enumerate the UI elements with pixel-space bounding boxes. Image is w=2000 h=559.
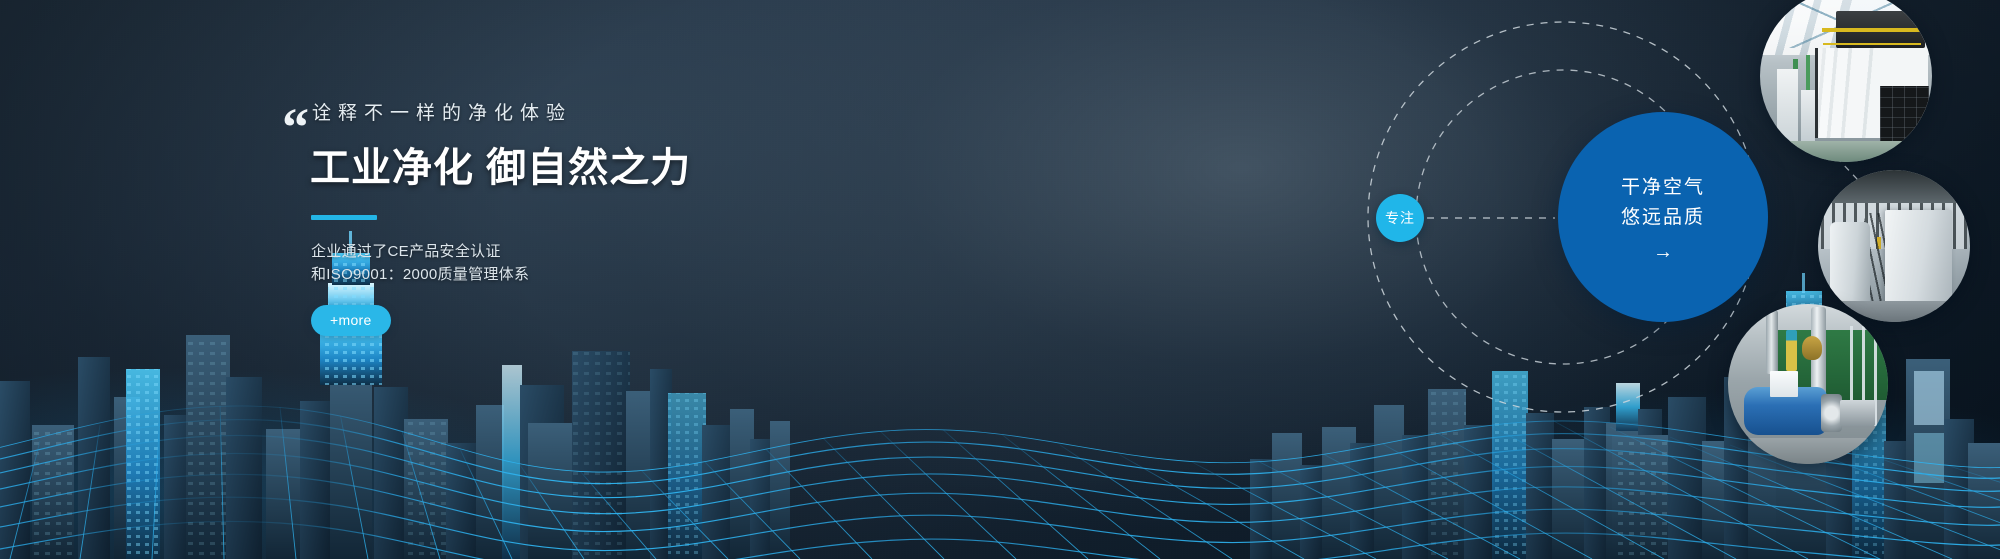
- hero-subtitle: 诠释不一样的净化体验: [312, 98, 868, 125]
- accent-rule-divider: [311, 215, 377, 220]
- core-message-circle[interactable]: 干净空气 悠远品质 →: [1558, 112, 1768, 322]
- photo-circle-pressure-vessel[interactable]: [1728, 304, 1888, 464]
- photo-image-pressure-vessel: [1728, 304, 1888, 464]
- core-line-1: 干净空气: [1621, 173, 1705, 203]
- hero-headline: 工业净化 御自然之力: [310, 135, 868, 193]
- hero-text-block: “ 诠释不一样的净化体验 工业净化 御自然之力 企业通过了CE产品安全认证 和I…: [308, 98, 868, 336]
- photo-circle-industrial-plant[interactable]: [1760, 0, 1932, 162]
- graphic-cluster: 专注 干净空气 悠远品质 →: [760, 0, 1560, 559]
- more-button[interactable]: +more: [311, 305, 391, 336]
- dashed-orbit-lines: [760, 0, 1560, 559]
- core-line-2: 悠远品质: [1621, 203, 1705, 233]
- photo-image-industrial-plant: [1760, 0, 1932, 162]
- arrow-right-icon: →: [1653, 242, 1673, 262]
- hero-body-line-2: 和ISO9001：2000质量管理体系: [311, 263, 868, 286]
- photo-image-textile-machinery: [1818, 170, 1970, 322]
- quote-mark-icon: “: [282, 100, 309, 154]
- photo-circle-textile-machinery[interactable]: [1818, 170, 1970, 322]
- hero-banner: “ 诠释不一样的净化体验 工业净化 御自然之力 企业通过了CE产品安全认证 和I…: [0, 0, 2000, 559]
- focus-chip[interactable]: 专注: [1376, 194, 1424, 242]
- focus-chip-label: 专注: [1385, 208, 1415, 228]
- hero-body-line-1: 企业通过了CE产品安全认证: [311, 240, 868, 263]
